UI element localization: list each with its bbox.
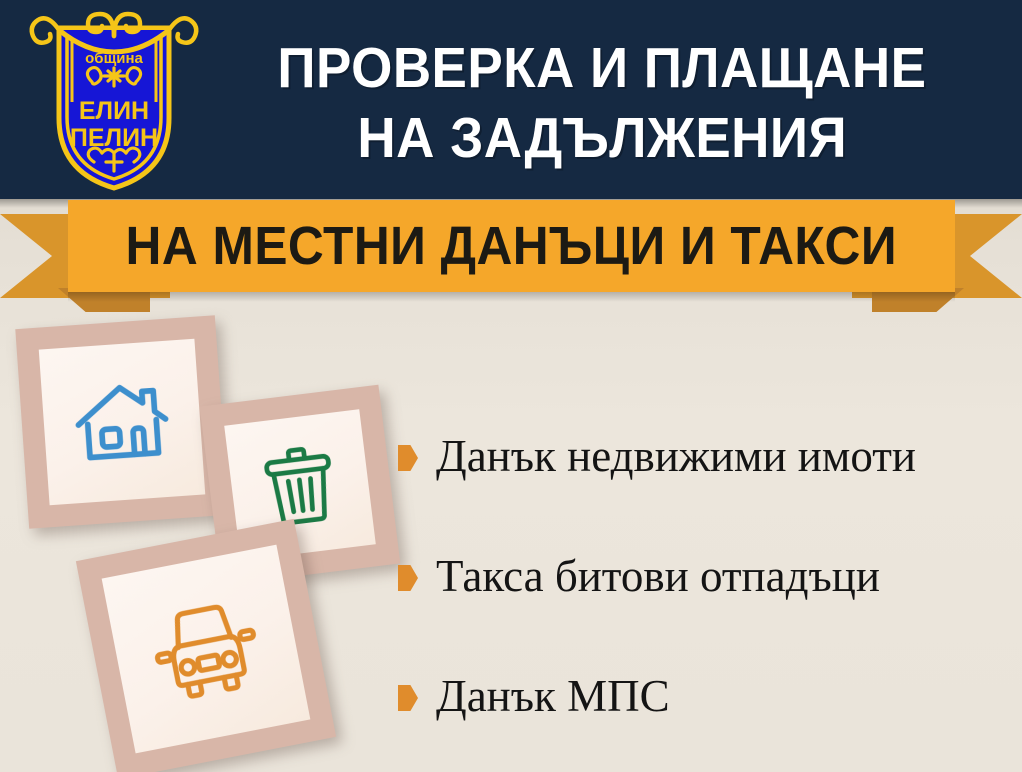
vehicle-tax-stamp xyxy=(76,519,336,772)
crest-text-pelin: ПЕЛИН xyxy=(70,124,158,152)
list-item[interactable]: Данък МПС xyxy=(398,660,1008,732)
arrow-bullet-icon xyxy=(398,445,418,471)
crest-text-elin: ЕЛИН xyxy=(79,97,149,125)
stamp-inner xyxy=(102,545,311,754)
arrow-bullet-icon xyxy=(398,685,418,711)
trash-can-icon xyxy=(252,437,348,533)
tax-type-list: Данък недвижими имоти Такса битови отпад… xyxy=(398,420,1008,732)
subtitle-ribbon: НА МЕСТНИ ДАНЪЦИ И ТАКСИ xyxy=(0,196,1022,316)
ribbon-shadow xyxy=(68,292,955,302)
page-title: ПРОВЕРКА И ПЛАЩАНЕ НА ЗАДЪЛЖЕНИЯ xyxy=(196,18,1008,188)
poster: община ЕЛИН ПЕЛИН ПРОВЕРКА И ПЛАЩАНЕ НА … xyxy=(0,0,1022,772)
list-item[interactable]: Данък недвижими имоти xyxy=(398,420,1008,492)
list-item-label: Данък МПС xyxy=(436,674,670,719)
house-icon xyxy=(66,366,177,477)
stamp-inner xyxy=(39,339,206,506)
ribbon-text: НА МЕСТНИ ДАНЪЦИ И ТАКСИ xyxy=(126,215,898,277)
real-estate-stamp xyxy=(15,315,228,528)
ribbon-body: НА МЕСТНИ ДАНЪЦИ И ТАКСИ xyxy=(68,200,955,292)
title-line-1: ПРОВЕРКА И ПЛАЩАНЕ xyxy=(277,39,926,97)
list-item-label: Такса битови отпадъци xyxy=(436,554,880,599)
stamp-frame xyxy=(15,315,228,528)
car-icon xyxy=(140,583,271,714)
coat-of-arms-logo: община ЕЛИН ПЕЛИН xyxy=(26,6,202,194)
arrow-bullet-icon xyxy=(398,565,418,591)
list-item[interactable]: Такса битови отпадъци xyxy=(398,540,1008,612)
crest-icon: община ЕЛИН ПЕЛИН xyxy=(26,6,202,194)
stamp-frame xyxy=(76,519,336,772)
crest-text-obshtina: община xyxy=(85,50,143,67)
list-item-label: Данък недвижими имоти xyxy=(436,434,916,479)
title-line-2: НА ЗАДЪЛЖЕНИЯ xyxy=(357,109,847,167)
